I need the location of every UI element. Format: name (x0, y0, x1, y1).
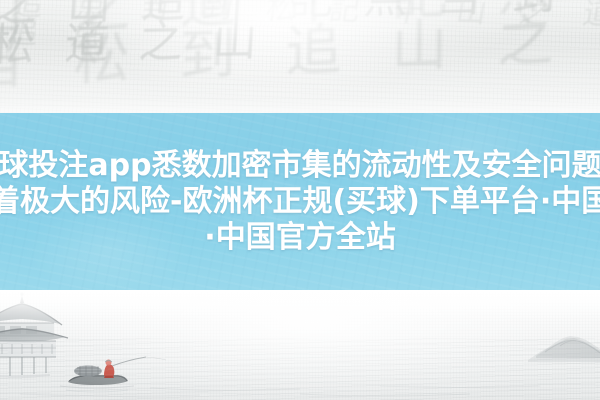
headline-line-1: 足球投注app悉数加密市集的流动性及安全问题也 (0, 148, 600, 184)
title-band: 足球投注app悉数加密市集的流动性及安全问题也 近着极大的风险-欧洲杯正规(买球… (0, 113, 600, 290)
headline-line-2: 近着极大的风险-欧洲杯正规(买球)下单平台·中国官方 (0, 184, 600, 220)
promo-banner: 山 之 道 千 記 点 当 松 到 追 山 之 之 山 追 千 記 点 当 到 … (0, 0, 600, 400)
paper-light-wash (0, 0, 600, 113)
calligraphy-background: 山 之 道 千 記 点 当 松 到 追 山 之 之 山 追 千 記 点 当 到 … (0, 0, 600, 113)
mist-wash (0, 290, 600, 400)
banner-headline: 足球投注app悉数加密市集的流动性及安全问题也 近着极大的风险-欧洲杯正规(买球… (0, 148, 600, 256)
ink-landscape (0, 290, 600, 400)
headline-line-3: ·中国官方全站 (0, 220, 600, 256)
